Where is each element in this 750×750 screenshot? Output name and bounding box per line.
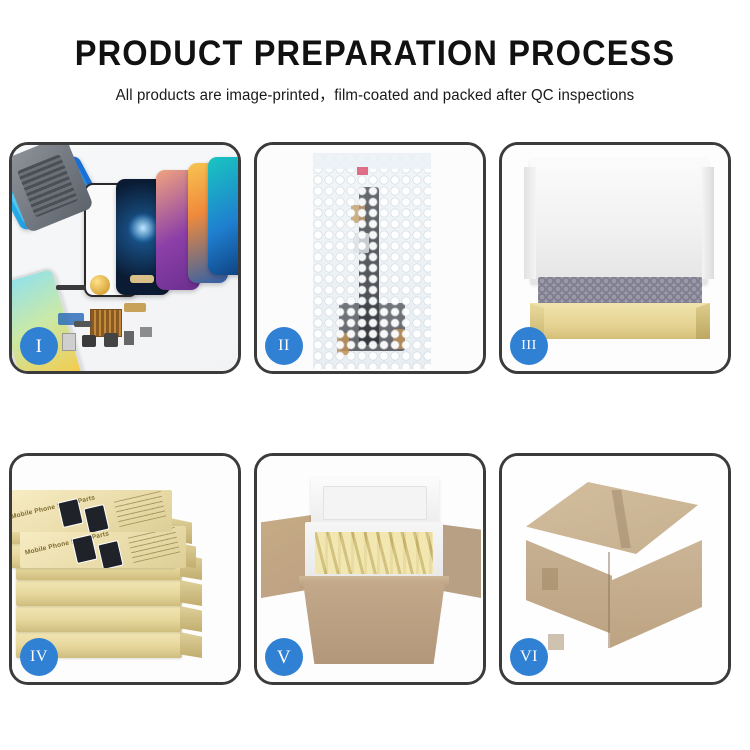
retail-box-lid: Mobile Phone Spare Parts: [20, 526, 186, 568]
small-component: [74, 321, 92, 327]
header: PRODUCT PREPARATION PROCESS All products…: [0, 0, 750, 105]
small-component: [140, 327, 152, 337]
stacked-box: [16, 580, 182, 606]
step-panel-3: III: [499, 142, 731, 374]
step-badge-2: II: [265, 327, 303, 365]
page-title: PRODUCT PREPARATION PROCESS: [26, 36, 724, 73]
screen-photo: [97, 540, 123, 568]
step-panel-6: VI: [499, 453, 731, 685]
small-component: [82, 335, 96, 347]
carton-left-face: [526, 540, 612, 634]
bag-seal: [313, 153, 431, 169]
pink-label-mark: [357, 167, 368, 175]
step-panel-4: Mobile Phone Spare Parts Mobile Phone Sp…: [9, 453, 241, 685]
small-component: [62, 333, 76, 351]
gold-boxes-shading: [315, 532, 433, 574]
step-panel-1: I: [9, 142, 241, 374]
box-label-text: Mobile Phone Spare Parts: [12, 494, 96, 520]
carton-front-panel: [303, 582, 445, 664]
step-badge-4: IV: [20, 638, 58, 676]
white-foam-lid: [530, 159, 708, 285]
phone-back-housing: [12, 145, 94, 233]
flex-cable-part: [130, 275, 154, 283]
stacked-box: [16, 606, 182, 632]
foam-box-lid: [311, 478, 439, 526]
carton-right-face: [610, 540, 702, 648]
box-label-text: Mobile Phone Spare Parts: [24, 530, 110, 556]
carton-tape-mark: [542, 568, 558, 590]
page-subtitle: All products are image-printed，film-coat…: [11, 83, 739, 105]
step-badge-3: III: [510, 327, 548, 365]
flex-cable-part: [124, 303, 146, 312]
step-panel-2: II: [254, 142, 486, 374]
small-component: [124, 331, 134, 345]
step-badge-5: V: [265, 638, 303, 676]
gold-box-base: [530, 303, 710, 339]
step-badge-6: VI: [510, 638, 548, 676]
box-spec-lines: [128, 527, 181, 563]
box-spec-lines: [114, 491, 167, 527]
carton-tape-mark: [548, 634, 564, 650]
steps-grid: I II: [9, 142, 741, 685]
speaker-part: [90, 275, 110, 295]
product-preparation-infographic: PRODUCT PREPARATION PROCESS All products…: [0, 0, 750, 750]
small-component: [104, 333, 118, 347]
phone-screen-teal: [208, 157, 238, 275]
carton-top-face: [526, 482, 698, 554]
step-panel-5: V: [254, 453, 486, 685]
retail-box-lid: Mobile Phone Spare Parts: [12, 490, 172, 532]
bubble-texture: [313, 153, 431, 369]
screen-photo: [83, 504, 109, 532]
antenna-part: [56, 285, 86, 290]
carton-vertical-edge: [608, 552, 610, 648]
bubble-wrap-bag: [313, 153, 431, 369]
step-badge-1: I: [20, 327, 58, 365]
